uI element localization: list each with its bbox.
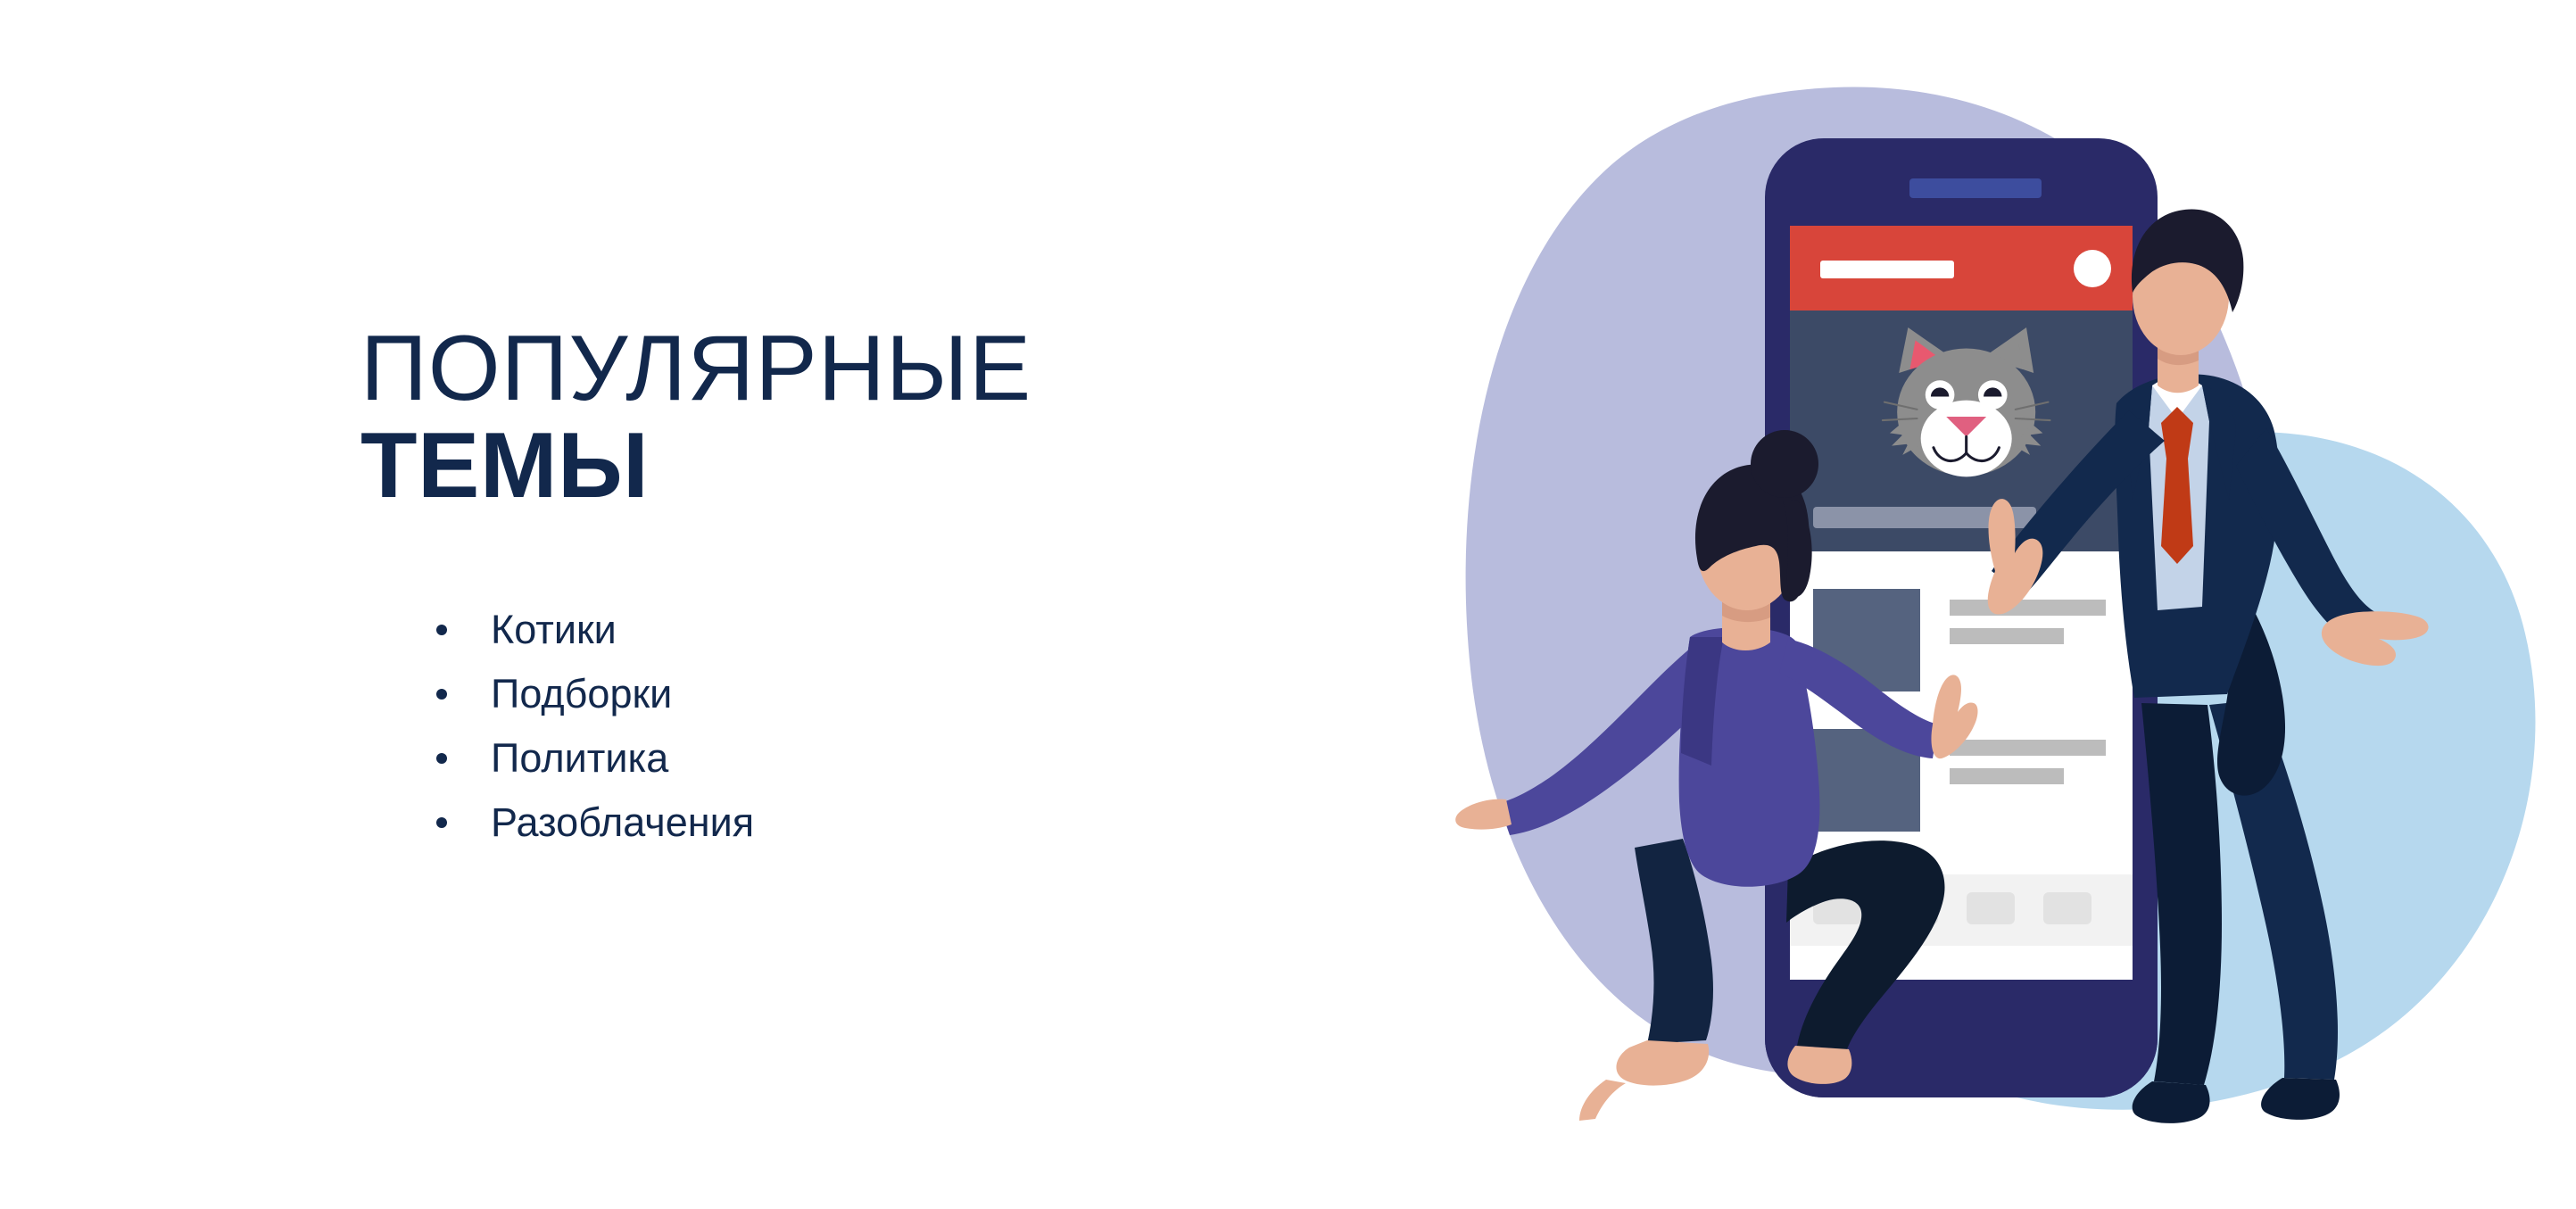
woman-left-hand (1455, 799, 1512, 830)
page-title-line-2: ТЕМЫ (360, 416, 1342, 516)
page-title-line-1: ПОПУЛЯРНЫЕ (360, 321, 1342, 416)
search-input (1820, 261, 1954, 278)
topic-list: Котики Подборки Политика Разоблачения (436, 598, 1342, 855)
topic-label: Политика (491, 735, 668, 782)
list-item: Политика (436, 726, 1342, 791)
woman-hair-bun (1751, 430, 1818, 498)
illustration-two-people-with-smartphone (1428, 54, 2570, 1169)
list-item: Подборки (436, 662, 1342, 726)
topic-label: Разоблачения (491, 799, 754, 846)
bullet-icon (436, 753, 447, 764)
tab-item (2043, 892, 2091, 924)
phone-speaker-pill (1909, 178, 2042, 198)
topic-label: Подборки (491, 671, 672, 717)
text-column: ПОПУЛЯРНЫЕ ТЕМЫ Котики Подборки Политика… (360, 321, 1342, 855)
woman-left-foot-toes (1579, 1080, 1626, 1121)
man-necktie-body (2161, 459, 2193, 564)
bullet-icon (436, 625, 447, 635)
topic-label: Котики (491, 607, 617, 653)
list-item: Котики (436, 598, 1342, 662)
man-back-shoe (2133, 1081, 2210, 1123)
feed-line (1950, 768, 2064, 784)
feed-line (1950, 740, 2106, 756)
smartphone-mockup (1765, 138, 2158, 1097)
feed-line (1950, 600, 2106, 616)
avatar (2074, 250, 2111, 287)
list-item: Разоблачения (436, 791, 1342, 855)
bullet-icon (436, 689, 447, 700)
woman-left-foot (1616, 1040, 1709, 1086)
woman-right-foot (1787, 1046, 1851, 1084)
feed-line (1950, 628, 2064, 644)
bullet-icon (436, 817, 447, 828)
tab-item (1967, 892, 2015, 924)
slide-canvas: ПОПУЛЯРНЫЕ ТЕМЫ Котики Подборки Политика… (0, 0, 2576, 1209)
